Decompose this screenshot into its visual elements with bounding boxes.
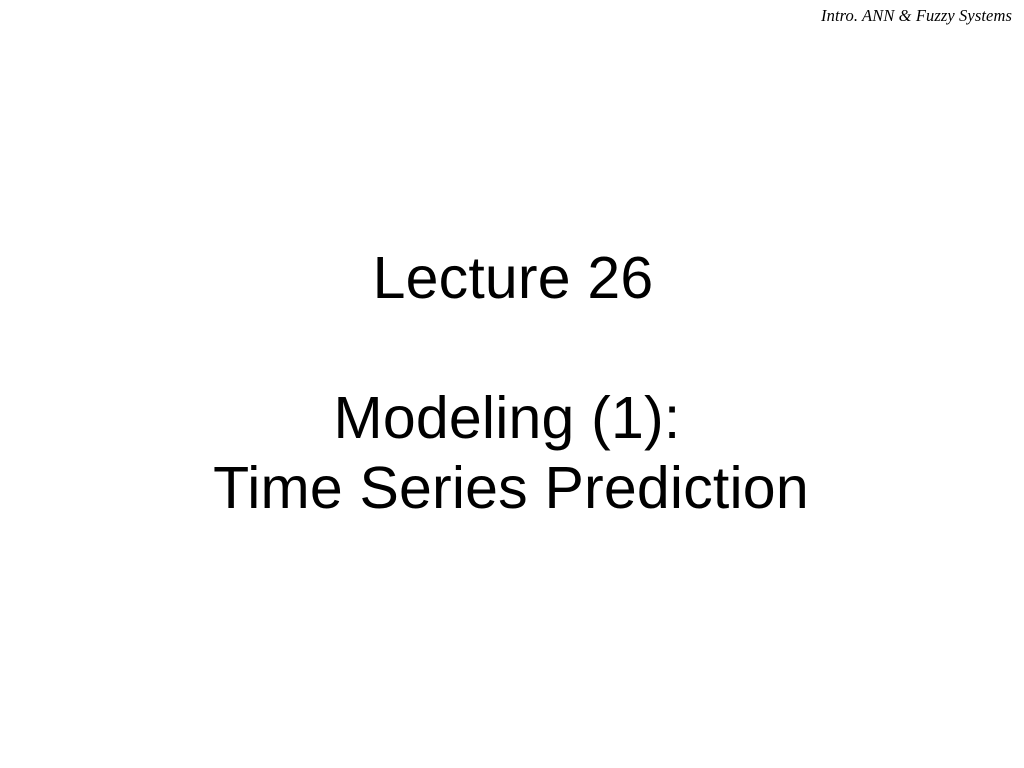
title-line-lecture-number: Lecture 26 — [0, 243, 1024, 313]
title-line-subtopic: Time Series Prediction — [0, 453, 1024, 523]
title-line-topic: Modeling (1): — [0, 383, 1024, 453]
slide-header-course-title: Intro. ANN & Fuzzy Systems — [452, 6, 1012, 26]
title-line-blank — [0, 313, 1024, 383]
slide-title-block: Lecture 26 Modeling (1): Time Series Pre… — [0, 243, 1024, 523]
presentation-slide: Intro. ANN & Fuzzy Systems Lecture 26 Mo… — [0, 0, 1024, 768]
